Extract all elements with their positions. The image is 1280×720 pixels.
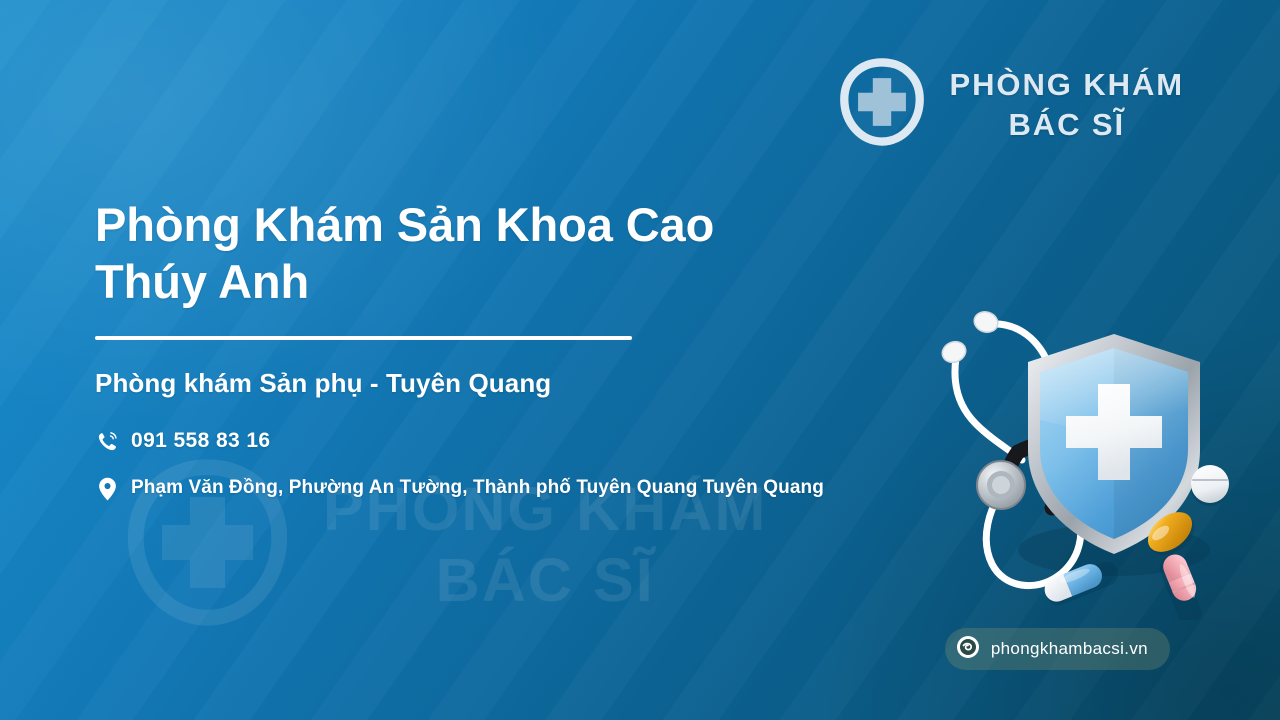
brand-logo: PHÒNG KHÁM BÁC SĨ [836,56,1184,153]
brand-logo-text: PHÒNG KHÁM BÁC SĨ [950,69,1184,140]
phone-call-icon [95,430,119,453]
map-pin-icon [95,477,119,501]
logo-line-1: PHÒNG KHÁM [950,69,1184,100]
clinic-subtitle: Phòng khám Sản phụ - Tuyên Quang [95,368,895,399]
medical-shield-stethoscope-pills-illustration [918,300,1258,620]
globe-icon [956,635,980,664]
clinic-banner: PHÒNG KHÁM BÁC SĨ PHÒNG KHÁM BÁC SĨ Phòn… [0,0,1280,720]
title-divider [95,336,632,340]
page-title: Phòng Khám Sản Khoa Cao Thúy Anh [95,196,825,311]
clinic-address: Phạm Văn Đồng, Phường An Tường, Thành ph… [131,474,824,503]
clinic-info-block: Phòng Khám Sản Khoa Cao Thúy Anh Phòng k… [95,196,895,503]
logo-line-2: BÁC SĨ [1008,109,1125,140]
address-row: Phạm Văn Đồng, Phường An Tường, Thành ph… [95,474,895,503]
website-url: phongkhambacsi.vn [991,639,1148,659]
phone-row: 091 558 83 16 [95,429,895,453]
medical-cross-circle-icon [836,56,928,153]
phone-number: 091 558 83 16 [131,429,271,453]
watermark-line-2: BÁC SĨ [436,550,655,611]
website-badge[interactable]: phongkhambacsi.vn [945,628,1170,670]
